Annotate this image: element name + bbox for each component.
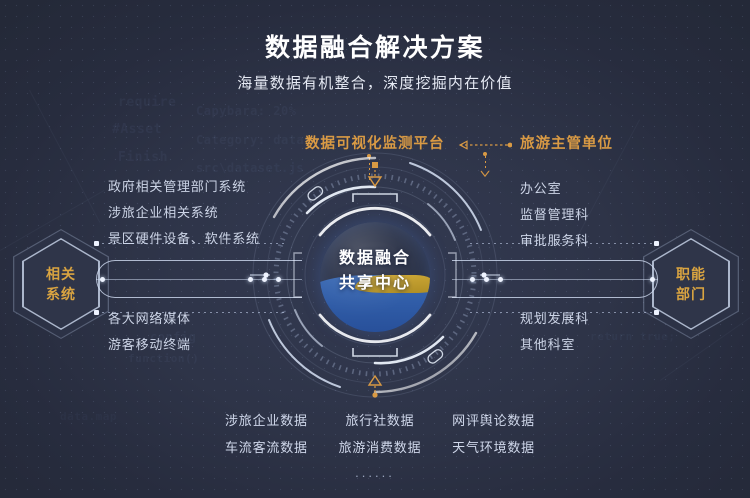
hexagon-label: 相关 系统 [46,264,76,304]
center-label-line1: 数据融合 [320,246,430,271]
table-row: 涉旅企业数据 旅行社数据 网评舆论数据 [225,407,535,434]
watermark-text: require [118,95,176,110]
arrow-down-to-center [366,162,384,188]
rail-endpoint [654,241,659,246]
data-source-item: 车流客流数据 [225,434,330,461]
flow-dot [100,277,105,282]
list-item: 监督管理科 [520,202,589,228]
page-title: 数据融合解决方案 [0,28,750,64]
data-sources-ellipsis: ...... [0,465,750,480]
watermark-text: data.map [60,410,117,423]
watermark-text: Finish [118,150,168,165]
list-item: 涉旅企业相关系统 [108,200,260,226]
rail-endpoint [654,310,659,315]
list-item: 政府相关管理部门系统 [108,174,260,200]
list-item: 其他科室 [520,332,589,358]
list-item: 办公室 [520,176,589,202]
watermark-text: return true; [590,330,675,343]
bottom-data-sources-grid: 涉旅企业数据 旅行社数据 网评舆论数据 车流客流数据 旅游消费数据 天气环境数据 [225,407,535,461]
hexagon-related-systems: 相关 系统 [22,238,100,330]
list-item: 规划发展科 [520,306,589,332]
data-source-item: 天气环境数据 [430,434,535,461]
table-row: 车流客流数据 旅游消费数据 天气环境数据 [225,434,535,461]
list-item: 审批服务科 [520,228,589,254]
watermark-text: #Asset [112,122,162,137]
hexagon-label-line1: 职能 [676,264,706,284]
left-top-systems-list: 政府相关管理部门系统 涉旅企业相关系统 景区硬件设备、软件系统 [108,174,260,252]
right-bottom-departments-list: 规划发展科 其他科室 [520,306,589,358]
hexagon-label: 职能 部门 [676,264,706,304]
hexagon-label-line2: 部门 [676,284,706,304]
hexagon-label-line1: 相关 [46,264,76,284]
hexagon-functional-departments: 职能 部门 [652,238,730,330]
data-source-item: 涉旅企业数据 [225,407,330,434]
decor-streak [29,90,100,223]
data-source-item: 网评舆论数据 [430,407,535,434]
list-item: 游客移动终端 [108,332,191,358]
center-label-line2: 共享中心 [320,271,430,296]
arrow-authority-to-platform [450,140,512,150]
data-source-item: 旅行社数据 [330,407,431,434]
rail-endpoint [94,310,99,315]
central-sphere-label: 数据融合 共享中心 [320,246,430,296]
flow-dot [650,277,655,282]
page-subtitle: 海量数据有机整合，深度挖掘内在价值 [0,72,750,93]
list-item: 各大网络媒体 [108,306,191,332]
left-bottom-systems-list: 各大网络媒体 游客移动终端 [108,306,191,358]
rail-endpoint [94,241,99,246]
list-item: 景区硬件设备、软件系统 [108,226,260,252]
arrow-up-to-center [366,374,384,400]
data-source-item: 旅游消费数据 [330,434,431,461]
label-tourism-authority: 旅游主管单位 [520,132,613,153]
watermark-text: Capybara: 20% [196,104,296,118]
hexagon-label-line2: 系统 [46,284,76,304]
infographic-canvas: require #Asset Finish Capybara: 20% Cate… [0,0,750,498]
